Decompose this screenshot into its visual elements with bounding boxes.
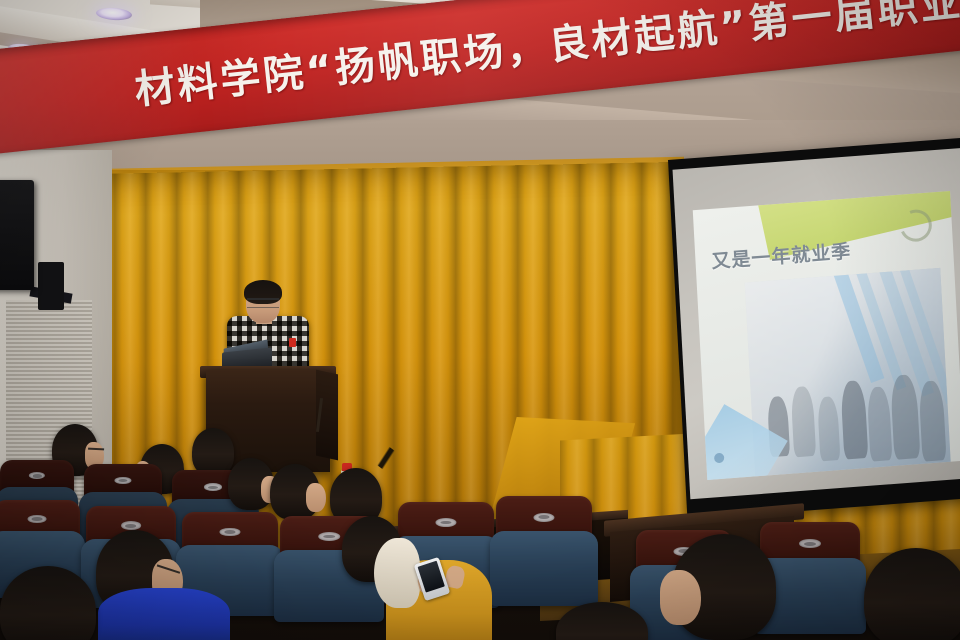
audience-head xyxy=(672,534,776,640)
audience-head xyxy=(0,566,96,640)
glasses-icon xyxy=(88,448,104,454)
projection-screen-frame: 又是一年就业季 xyxy=(668,138,960,520)
fur-collar xyxy=(374,538,420,608)
slide-title: 又是一年就业季 xyxy=(711,237,852,274)
audience-head xyxy=(556,602,648,640)
auditorium-photo-scene: 材料学院“扬帆职场，良材起航”第一届职业规划节——就业形势 又是一年就业季 xyxy=(0,0,960,640)
audience-head xyxy=(864,548,960,640)
projection-screen-surface: 又是一年就业季 xyxy=(673,148,960,499)
speaker-bracket xyxy=(38,262,64,310)
presentation-slide: 又是一年就业季 xyxy=(693,191,960,480)
lapel-badge-icon xyxy=(289,338,296,347)
audience-torso-blue-shirt xyxy=(98,588,230,640)
wall-speaker-icon xyxy=(0,180,34,290)
auditorium-seat[interactable] xyxy=(496,496,592,600)
audience-head xyxy=(228,458,274,510)
glasses-icon xyxy=(247,298,279,308)
